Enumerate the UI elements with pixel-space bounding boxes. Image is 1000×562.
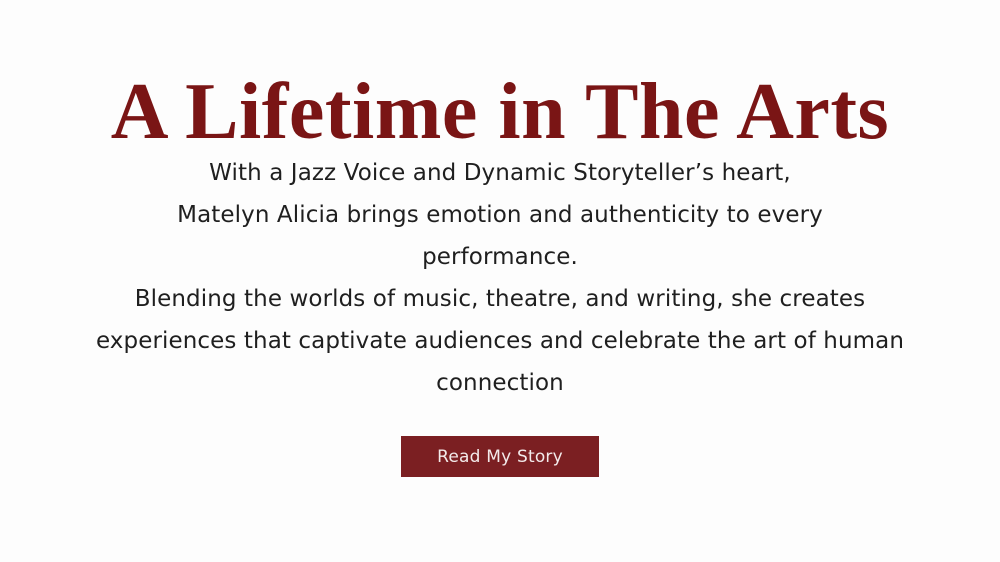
hero-subtext: With a Jazz Voice and Dynamic Storytelle… bbox=[30, 152, 970, 404]
hero-subtext-line: Matelyn Alicia brings emotion and authen… bbox=[30, 194, 970, 236]
hero-subtext-line: experiences that captivate audiences and… bbox=[30, 320, 970, 362]
hero-section: A Lifetime in The Arts With a Jazz Voice… bbox=[0, 0, 1000, 562]
hero-subtext-line: connection bbox=[30, 362, 970, 404]
hero-subtext-line: Blending the worlds of music, theatre, a… bbox=[30, 278, 970, 320]
cta-container: Read My Story bbox=[0, 436, 1000, 477]
page-title: A Lifetime in The Arts bbox=[111, 72, 889, 152]
hero-subtext-line: With a Jazz Voice and Dynamic Storytelle… bbox=[30, 152, 970, 194]
read-my-story-button[interactable]: Read My Story bbox=[401, 436, 599, 477]
hero-subtext-line: performance. bbox=[30, 236, 970, 278]
